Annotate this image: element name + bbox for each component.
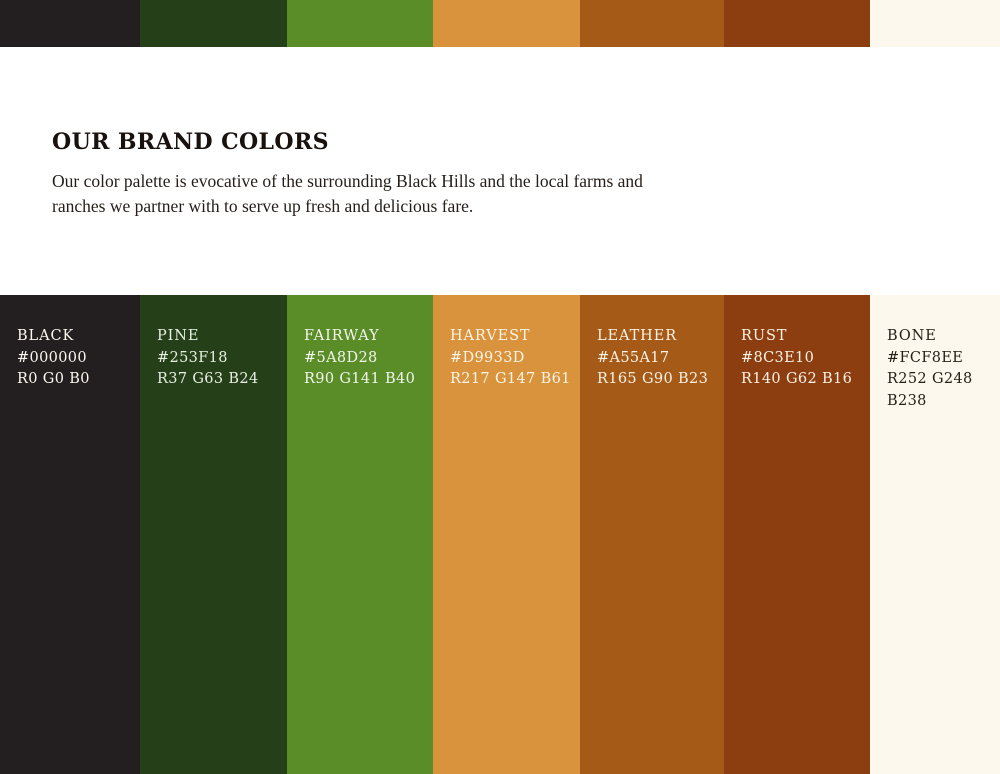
swatch-rgb-value: R252 G248 B238 bbox=[887, 369, 992, 412]
color-swatch-bone: BONE #FCF8EE R252 G248 B238 bbox=[870, 295, 1000, 774]
color-swatch-black: BLACK #000000 R0 G0 B0 bbox=[0, 295, 140, 774]
swatch-rgb-value: R0 G0 B0 bbox=[17, 369, 132, 391]
top-band-black bbox=[0, 0, 140, 47]
swatch-name: RUST bbox=[741, 326, 862, 348]
top-band-fairway bbox=[287, 0, 433, 47]
swatch-hex-value: #FCF8EE bbox=[887, 348, 992, 370]
top-band-harvest bbox=[433, 0, 580, 47]
intro-description: Our color palette is evocative of the su… bbox=[52, 169, 688, 219]
swatch-name: HARVEST bbox=[450, 326, 572, 348]
top-band-rust bbox=[724, 0, 870, 47]
top-color-strip bbox=[0, 0, 1000, 47]
color-swatch-pine: PINE #253F18 R37 G63 B24 bbox=[140, 295, 287, 774]
swatch-name: PINE bbox=[157, 326, 279, 348]
swatch-rgb-value: R90 G141 B40 bbox=[304, 369, 425, 391]
swatch-hex-value: #5A8D28 bbox=[304, 348, 425, 370]
color-swatch-rust: RUST #8C3E10 R140 G62 B16 bbox=[724, 295, 870, 774]
swatch-hex-value: #A55A17 bbox=[597, 348, 716, 370]
swatch-name: FAIRWAY bbox=[304, 326, 425, 348]
swatch-rgb-value: R140 G62 B16 bbox=[741, 369, 862, 391]
top-band-leather bbox=[580, 0, 724, 47]
color-swatch-grid: BLACK #000000 R0 G0 B0 PINE #253F18 R37 … bbox=[0, 295, 1000, 774]
swatch-rgb-value: R217 G147 B61 bbox=[450, 369, 572, 391]
swatch-rgb-value: R165 G90 B23 bbox=[597, 369, 716, 391]
top-band-pine bbox=[140, 0, 287, 47]
swatch-name: BLACK bbox=[17, 326, 132, 348]
color-swatch-fairway: FAIRWAY #5A8D28 R90 G141 B40 bbox=[287, 295, 433, 774]
swatch-hex-value: #253F18 bbox=[157, 348, 279, 370]
swatch-hex-value: #D9933D bbox=[450, 348, 572, 370]
swatch-name: BONE bbox=[887, 326, 992, 348]
swatch-hex-value: #8C3E10 bbox=[741, 348, 862, 370]
page-title: OUR BRAND COLORS bbox=[52, 130, 752, 154]
swatch-rgb-value: R37 G63 B24 bbox=[157, 369, 279, 391]
top-band-bone bbox=[870, 0, 1000, 47]
swatch-name: LEATHER bbox=[597, 326, 716, 348]
brand-colors-page: OUR BRAND COLORS Our color palette is ev… bbox=[0, 0, 1000, 774]
color-swatch-harvest: HARVEST #D9933D R217 G147 B61 bbox=[433, 295, 580, 774]
swatch-hex-value: #000000 bbox=[17, 348, 132, 370]
intro-section: OUR BRAND COLORS Our color palette is ev… bbox=[52, 130, 752, 219]
color-swatch-leather: LEATHER #A55A17 R165 G90 B23 bbox=[580, 295, 724, 774]
